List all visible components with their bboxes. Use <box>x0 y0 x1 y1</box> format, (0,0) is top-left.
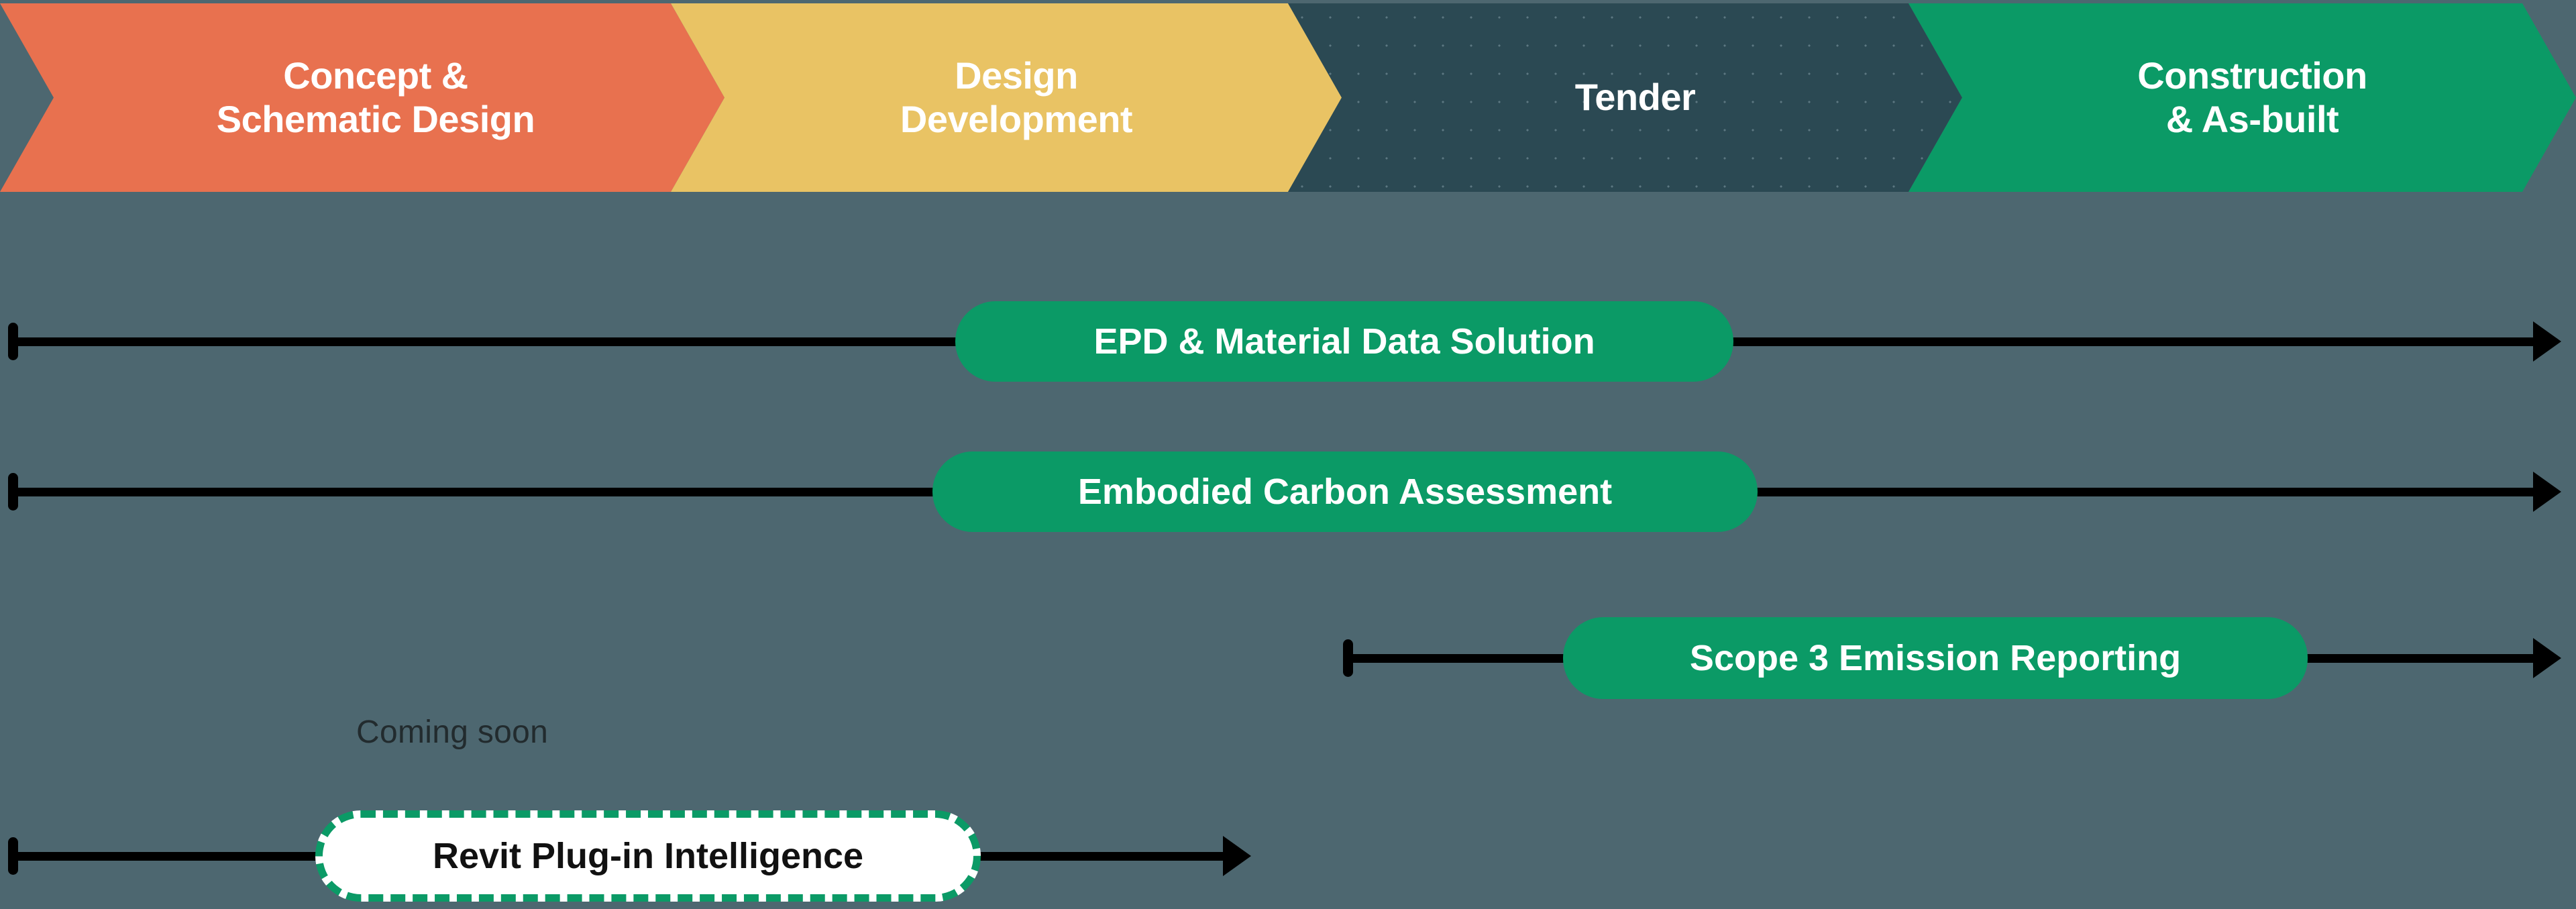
phase-label-design-development: Design Development <box>900 54 1132 142</box>
phase-tender[interactable]: Tender <box>1288 3 1962 192</box>
solution-pill-embodied-carbon-assessment[interactable]: Embodied Carbon Assessment <box>932 451 1758 532</box>
track-arrow-icon <box>2533 472 2561 512</box>
phase-label-construction-as-built: Construction & As-built <box>2137 54 2367 142</box>
solution-pill-label: Revit Plug-in Intelligence <box>433 835 863 877</box>
solution-pill-epd-material-data-solution[interactable]: EPD & Material Data Solution <box>955 301 1733 382</box>
solution-pill-label: Scope 3 Emission Reporting <box>1690 637 2181 679</box>
coming-soon-badge: Coming soon <box>356 714 548 751</box>
solution-pill-label: Embodied Carbon Assessment <box>1078 471 1612 513</box>
phase-design-development[interactable]: Design Development <box>671 3 1342 192</box>
track-arrow-icon <box>2533 638 2561 678</box>
phase-label-concept-schematic-design: Concept & Schematic Design <box>217 54 535 142</box>
phase-concept-schematic-design[interactable]: Concept & Schematic Design <box>0 3 724 192</box>
track-arrow-icon <box>2533 321 2561 362</box>
track-arrow-icon <box>1223 836 1251 876</box>
solution-pill-revit-plugin-intelligence[interactable]: Revit Plug-in Intelligence <box>315 810 981 902</box>
solution-pill-label: EPD & Material Data Solution <box>1093 321 1595 362</box>
phase-chevron-band: Concept & Schematic Design Design Develo… <box>0 3 2576 192</box>
phase-label-tender: Tender <box>1575 76 1696 119</box>
solution-pill-scope-3-emission-reporting[interactable]: Scope 3 Emission Reporting <box>1563 617 2308 699</box>
phase-construction-as-built[interactable]: Construction & As-built <box>1909 3 2576 192</box>
